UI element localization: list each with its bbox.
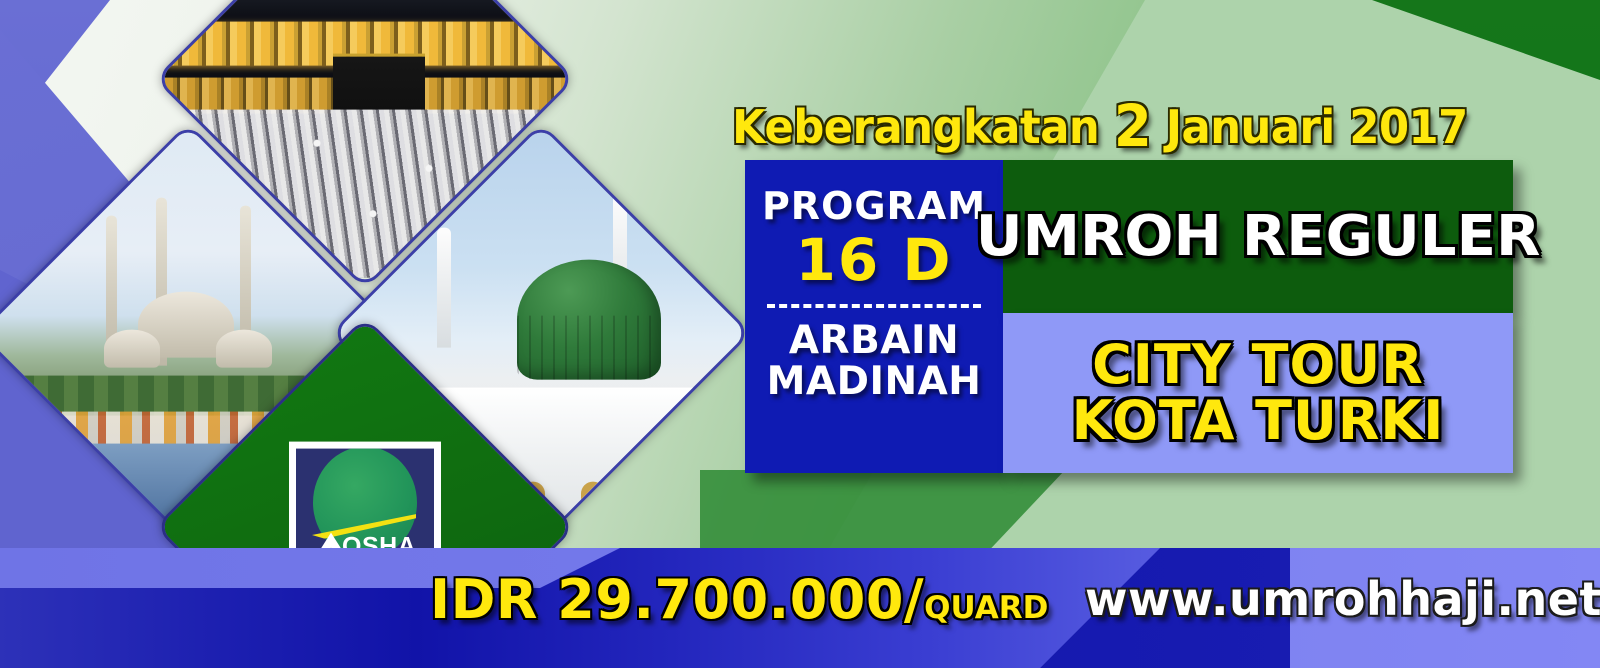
green-dome-ribs [517, 316, 661, 380]
panel-divider [767, 304, 981, 308]
departure-headline: Keberangkatan 2 Januari 2017 [724, 92, 1476, 160]
logo-emblem: QSHA [296, 449, 434, 561]
program-duration: 16 D [745, 226, 1003, 294]
arbain-line-2: MADINAH [745, 361, 1003, 402]
price-label: IDR 29.700.000/QUARD [430, 568, 1048, 631]
headline-suffix: Januari 2017 [1166, 100, 1468, 154]
package-panel: UMROH REGULER [1003, 160, 1513, 313]
website-url[interactable]: www.umrohhaji.net [1085, 572, 1600, 626]
program-label: PROGRAM [745, 184, 1003, 228]
package-title: UMROH REGULER [976, 204, 1541, 269]
city-tour-panel: CITY TOUR KOTA TURKI [1003, 313, 1513, 473]
headline-day: 2 [1114, 92, 1151, 160]
price-unit: QUARD [924, 590, 1048, 626]
program-panel: PROGRAM 16 D ARBAIN MADINAH [745, 160, 1003, 473]
arbain-line-1: ARBAIN [745, 320, 1003, 361]
city-tour-line-1: CITY TOUR [1092, 337, 1424, 393]
mosque-dome [216, 330, 272, 368]
minaret-icon [437, 228, 451, 348]
city-tour-line-2: KOTA TURKI [1072, 393, 1445, 449]
mosque-dome [104, 330, 160, 368]
headline-prefix: Keberangkatan [732, 100, 1099, 154]
promotional-banner: QSHA Hajj & Umrah Keberangkatan 2 Januar… [0, 0, 1600, 668]
price-amount: IDR 29.700.000/ [430, 568, 924, 631]
